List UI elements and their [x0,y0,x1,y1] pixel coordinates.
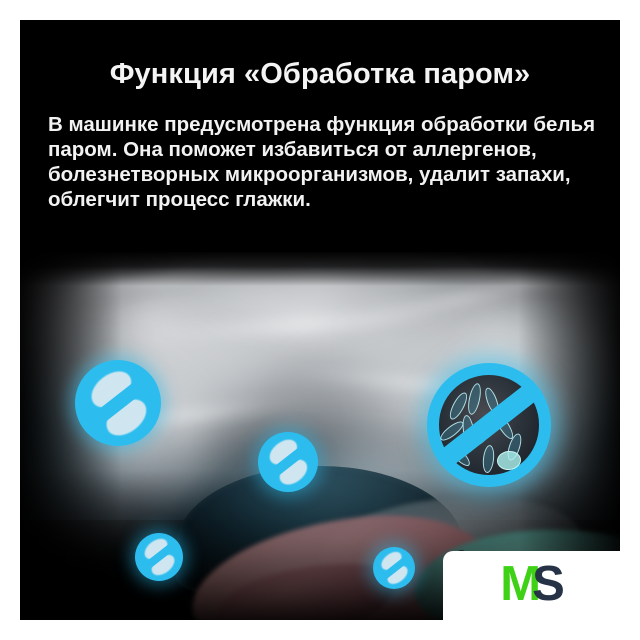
text-block: Функция «Обработка паром» В машинке пред… [20,20,620,212]
badge-inner [75,360,161,446]
poster: Функция «Обработка паром» В машинке пред… [0,0,640,640]
bacteria-rod [482,444,496,473]
badge-inner [373,547,415,589]
logo-wordmark: MS [500,560,563,609]
brand-logo: MS [443,551,620,620]
no-allergen-icon [258,432,318,492]
badge-inner [427,363,551,487]
badge-inner [258,432,318,492]
logo-letter-s: S [532,557,563,611]
no-allergen-icon [75,360,161,446]
poster-canvas: Функция «Обработка паром» В машинке пред… [20,20,620,620]
bacteria-rod [466,383,483,416]
badge-inner [135,533,183,581]
no-allergen-icon [135,533,183,581]
no-allergen-icon [373,547,415,589]
page-title: Функция «Обработка паром» [20,20,620,90]
no-bacteria-icon [427,363,551,487]
bacteria-rod [496,450,522,471]
body-paragraph: В машинке предусмотрена функция обработк… [20,90,620,212]
